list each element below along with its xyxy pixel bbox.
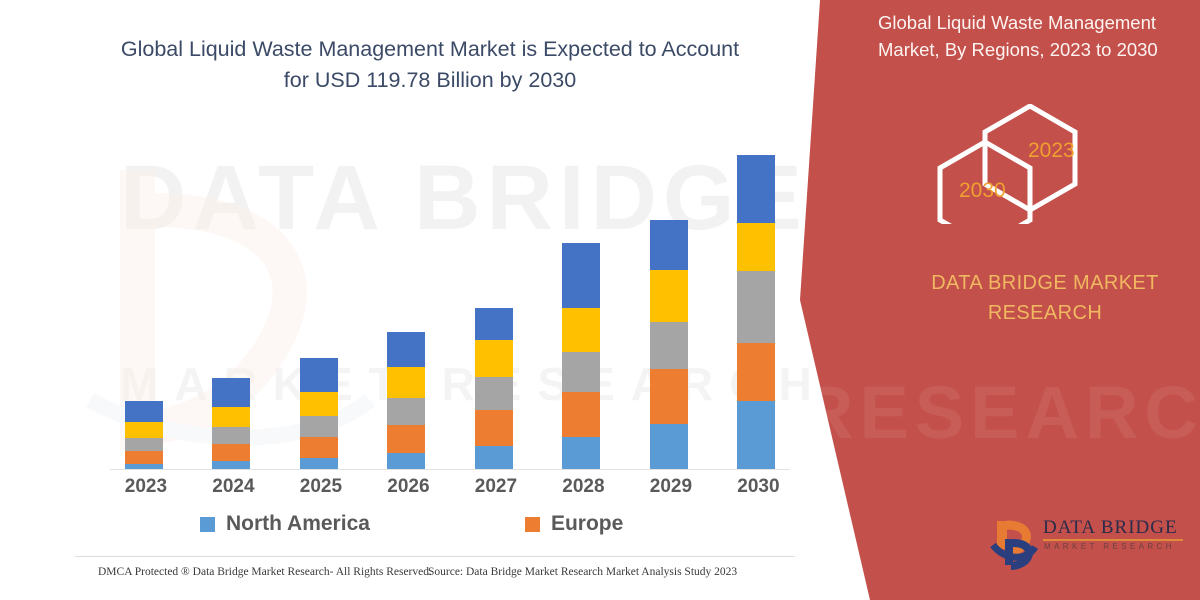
bar-2027 — [475, 308, 513, 469]
segment-yellow — [125, 422, 163, 438]
bar-2028 — [562, 243, 600, 469]
segment-north-america — [212, 461, 250, 469]
segment-europe — [212, 444, 250, 461]
segment-europe — [475, 410, 513, 446]
x-axis-label-2026: 2026 — [387, 476, 425, 498]
segment-europe — [300, 437, 338, 458]
footer-source-note: Source: Data Bridge Market Research Mark… — [428, 566, 737, 578]
legend-label-europe: Europe — [551, 512, 623, 536]
segment-gray — [125, 438, 163, 451]
bar-chart — [100, 140, 800, 470]
segment-dark-blue — [475, 308, 513, 340]
infographic-page: DATA BRIDGE MARKET RESEARCH Global Liqui… — [0, 0, 1200, 600]
logo-name: DATA BRIDGE — [1043, 517, 1178, 539]
x-axis-label-2027: 2027 — [475, 476, 513, 498]
segment-europe — [562, 392, 600, 437]
x-axis-label-2025: 2025 — [300, 476, 338, 498]
x-axis-label-2023: 2023 — [125, 476, 163, 498]
hexagon-label-2030: 2030 — [959, 179, 1006, 203]
footer-divider — [75, 556, 795, 557]
bar-2023 — [125, 401, 163, 469]
chart-baseline — [110, 469, 790, 470]
segment-europe — [737, 343, 775, 401]
x-axis-label-2028: 2028 — [562, 476, 600, 498]
page-title: Global Liquid Waste Management Market is… — [120, 34, 740, 95]
segment-yellow — [562, 308, 600, 352]
segment-north-america — [300, 458, 338, 469]
logo-tagline: MARKET RESEARCH — [1044, 542, 1175, 551]
panel-brand-line1: DATA BRIDGE MARKET — [920, 268, 1170, 298]
segment-gray — [562, 352, 600, 392]
logo-divider — [1043, 539, 1183, 541]
panel-brand-text: DATA BRIDGE MARKET RESEARCH — [920, 268, 1170, 328]
bar-2029 — [650, 220, 688, 469]
segment-gray — [387, 398, 425, 425]
x-axis-label-2030: 2030 — [737, 476, 775, 498]
logo-b-mark-icon — [985, 515, 1041, 571]
segment-dark-blue — [650, 220, 688, 270]
legend-swatch-north-america — [200, 517, 215, 532]
legend-item-europe: Europe — [525, 512, 623, 536]
segment-north-america — [475, 446, 513, 469]
segment-gray — [475, 377, 513, 410]
segment-yellow — [212, 407, 250, 427]
legend-item-north-america: North America — [200, 512, 370, 536]
segment-north-america — [562, 437, 600, 469]
segment-dark-blue — [387, 332, 425, 367]
segment-north-america — [737, 401, 775, 469]
chart-legend: North America Europe — [150, 512, 710, 536]
bar-2025 — [300, 358, 338, 469]
segment-dark-blue — [562, 243, 600, 308]
bar-2030 — [737, 155, 775, 469]
segment-yellow — [475, 340, 513, 377]
bar-2024 — [212, 378, 250, 469]
segment-yellow — [737, 223, 775, 271]
segment-north-america — [650, 424, 688, 469]
segment-yellow — [387, 367, 425, 398]
segment-europe — [125, 451, 163, 464]
segment-yellow — [650, 270, 688, 322]
segment-gray — [212, 427, 250, 444]
segment-north-america — [387, 453, 425, 469]
bar-2026 — [387, 332, 425, 469]
bar-group — [100, 140, 800, 469]
legend-swatch-europe — [525, 517, 540, 532]
panel-brand-line2: RESEARCH — [920, 298, 1170, 328]
segment-yellow — [300, 392, 338, 416]
data-bridge-logo: DATA BRIDGE MARKET RESEARCH — [985, 515, 1185, 573]
footer-dmca-notice: DMCA Protected ® Data Bridge Market Rese… — [98, 566, 432, 578]
segment-gray — [650, 322, 688, 369]
segment-dark-blue — [125, 401, 163, 422]
segment-gray — [737, 271, 775, 343]
x-axis-label-2029: 2029 — [650, 476, 688, 498]
segment-dark-blue — [737, 155, 775, 223]
legend-label-north-america: North America — [226, 512, 370, 536]
x-axis-label-2024: 2024 — [212, 476, 250, 498]
x-axis-labels: 2023 2024 2025 2026 2027 2028 2029 2030 — [100, 476, 800, 498]
segment-europe — [387, 425, 425, 453]
segment-europe — [650, 369, 688, 424]
panel-title: Global Liquid Waste Management Market, B… — [878, 10, 1188, 64]
segment-dark-blue — [300, 358, 338, 392]
segment-dark-blue — [212, 378, 250, 407]
hexagon-label-2023: 2023 — [1028, 139, 1075, 163]
segment-gray — [300, 416, 338, 437]
